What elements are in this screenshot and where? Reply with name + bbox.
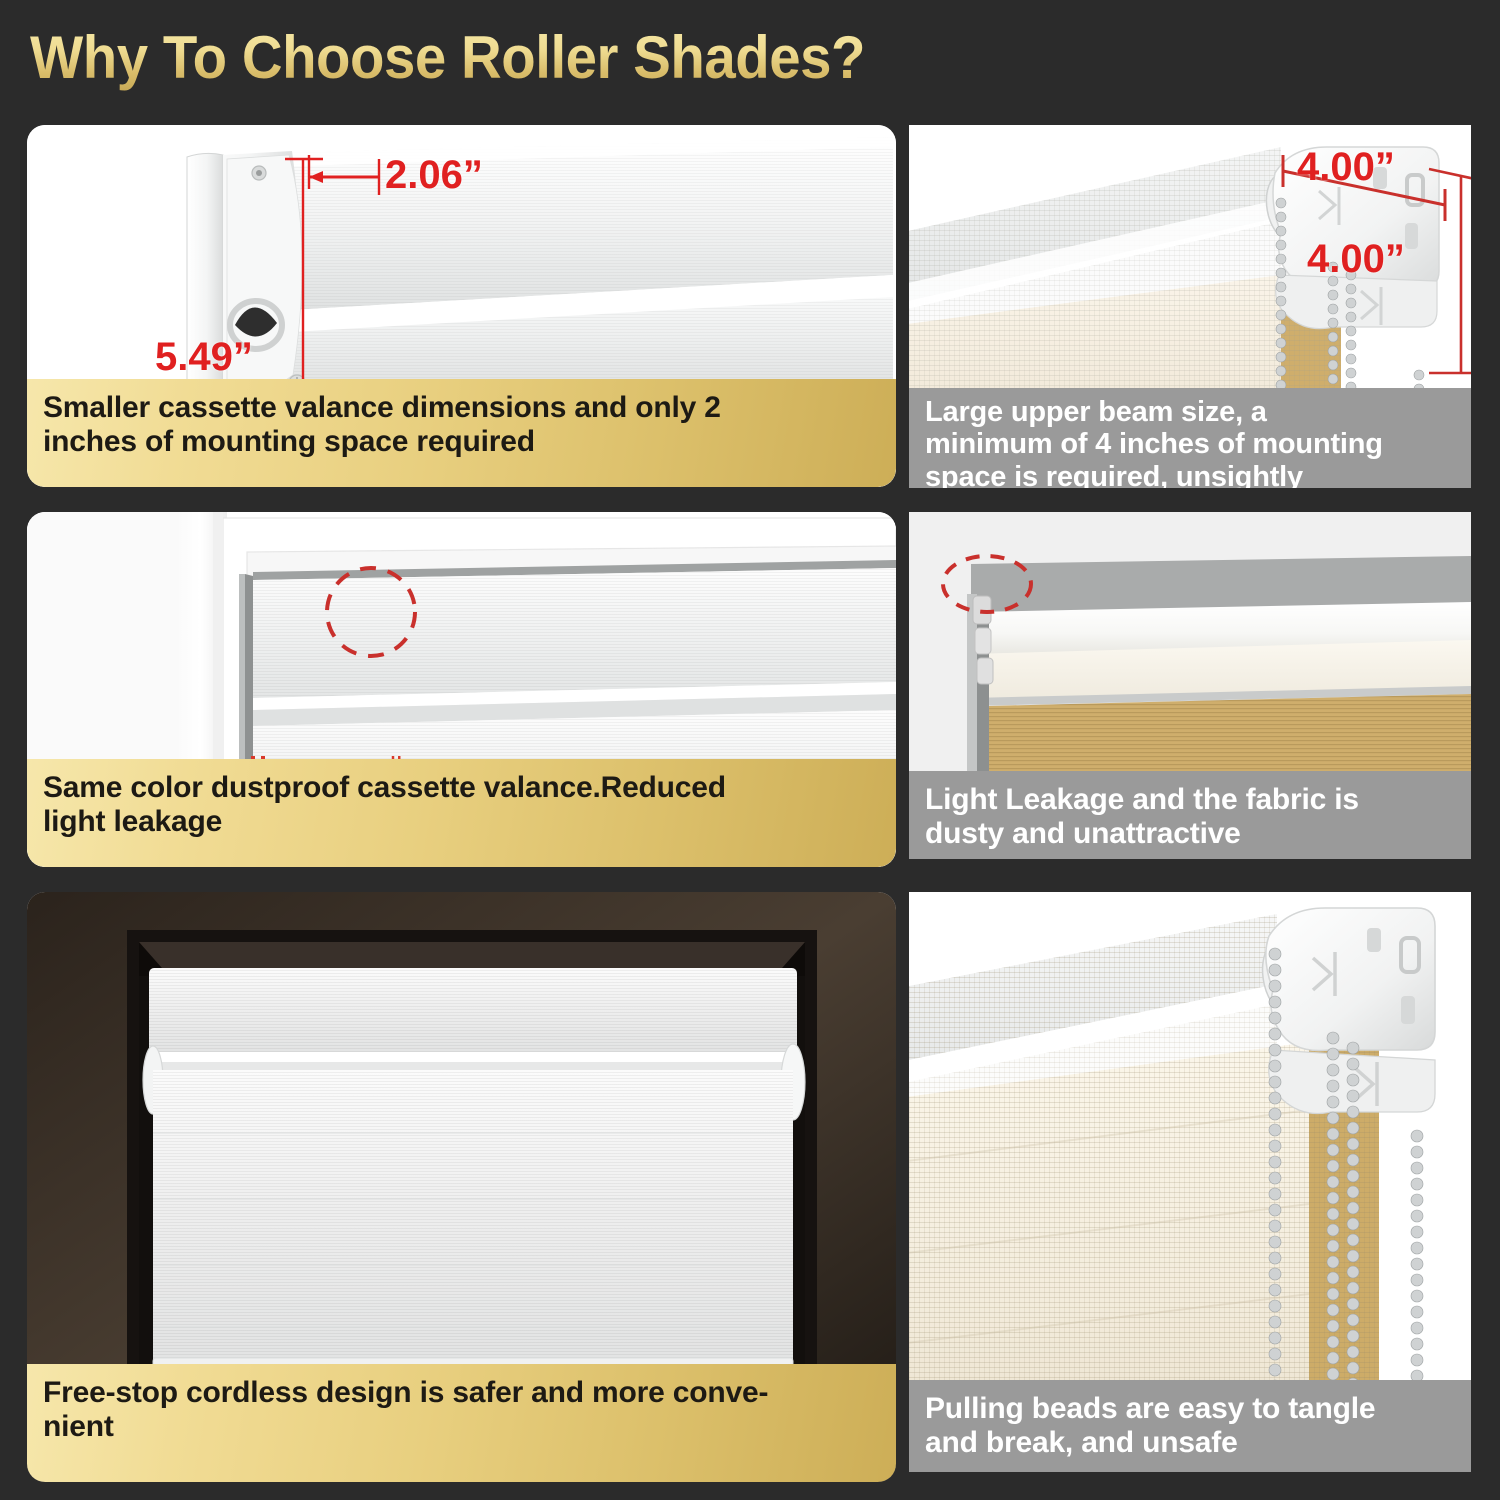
caption-line: Large upper beam size, a bbox=[925, 396, 1455, 428]
height-dimension-label: 4.00” bbox=[1307, 237, 1405, 282]
caption-line: dusty and unattractive bbox=[925, 817, 1455, 851]
caption-line: light leakage bbox=[43, 805, 880, 839]
caption-good-cordless-design: Free-stop cordless design is safer and m… bbox=[27, 1364, 896, 1482]
caption-line: Same color dustproof cassette valance.Re… bbox=[43, 771, 880, 805]
caption-line: and break, and unsafe bbox=[925, 1426, 1455, 1460]
caption-good-cassette-dimensions: Smaller cassette valance dimensions and … bbox=[27, 379, 896, 487]
caption-line: space is required, unsightly bbox=[925, 461, 1455, 488]
caption-line: Free-stop cordless design is safer and m… bbox=[43, 1376, 880, 1410]
caption-bad-pulling-beads: Pulling beads are easy to tangle and bre… bbox=[909, 1380, 1471, 1472]
panel-bad-pulling-beads: Pulling beads are easy to tangle and bre… bbox=[909, 892, 1471, 1472]
panel-bad-light-leakage: Large gap Light Leakage and the fabric i… bbox=[909, 512, 1471, 859]
caption-line: Smaller cassette valance dimensions and … bbox=[43, 391, 880, 425]
caption-line: nient bbox=[43, 1410, 880, 1444]
width-dimension-label: 4.00” bbox=[1297, 145, 1395, 190]
panel-good-cassette-dimensions: 2.06” 5.49” Smaller cassette valance dim… bbox=[27, 125, 896, 487]
caption-bad-light-leakage: Light Leakage and the fabric is dusty an… bbox=[909, 771, 1471, 859]
width-dimension-label: 2.06” bbox=[385, 153, 483, 198]
caption-good-dustproof-valance: Same color dustproof cassette valance.Re… bbox=[27, 759, 896, 867]
panel-good-cordless-design: Free-stop cordless design is safer and m… bbox=[27, 892, 896, 1482]
height-dimension-label: 5.49” bbox=[155, 335, 253, 380]
caption-line: inches of mounting space required bbox=[43, 425, 880, 459]
panel-bad-upper-beam-size: 4.00” 4.00” Large upper beam size, a min… bbox=[909, 125, 1471, 488]
caption-bad-upper-beam-size: Large upper beam size, a minimum of 4 in… bbox=[909, 388, 1471, 488]
comparison-grid: 2.06” 5.49” Smaller cassette valance dim… bbox=[0, 0, 1500, 1500]
caption-line: Pulling beads are easy to tangle bbox=[925, 1392, 1455, 1426]
caption-line: Light Leakage and the fabric is bbox=[925, 783, 1455, 817]
caption-line: minimum of 4 inches of mounting bbox=[925, 428, 1455, 460]
panel-good-dustproof-valance: smaller gap Same color dustproof cassett… bbox=[27, 512, 896, 867]
